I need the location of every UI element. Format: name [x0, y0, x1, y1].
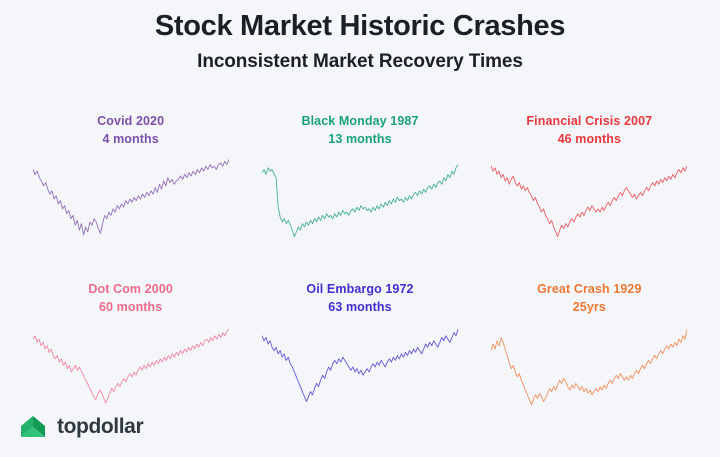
sparkline-path: [491, 166, 687, 237]
panel-crash-name: Oil Embargo 1972: [306, 282, 413, 296]
panel-recovery-time: 4 months: [97, 130, 164, 148]
sparkline-path: [33, 330, 229, 404]
brand-logo[interactable]: topdollar: [20, 413, 143, 441]
page-subtitle: Inconsistent Market Recovery Times: [0, 52, 720, 73]
page-title: Stock Market Historic Crashes: [0, 11, 720, 43]
sparkline-chart: [262, 154, 458, 246]
sparkline-chart: [491, 154, 687, 246]
panel-label: Great Crash 192925yrs: [537, 272, 641, 316]
sparkline-path: [262, 330, 458, 402]
sparkline-chart: [33, 322, 229, 414]
panel-label: Financial Crisis 200746 months: [526, 104, 652, 148]
brand-name: topdollar: [57, 415, 143, 439]
sparkline-container: [477, 154, 702, 254]
sparkline-chart: [491, 322, 687, 414]
panel-label: Black Monday 198713 months: [301, 104, 418, 148]
sparkline-container: [18, 322, 243, 422]
panel-crash-name: Great Crash 1929: [537, 282, 641, 296]
panel-label: Dot Com 200060 months: [88, 272, 173, 316]
header: Stock Market Historic Crashes Inconsiste…: [0, 0, 720, 73]
sparkline-path: [33, 160, 229, 235]
sparkline-path: [262, 165, 458, 237]
crash-panel: Black Monday 198713 months: [247, 104, 472, 272]
panel-crash-name: Dot Com 2000: [88, 282, 173, 296]
sparkline-path: [491, 330, 687, 405]
sparkline-chart: [33, 154, 229, 246]
panel-recovery-time: 13 months: [301, 130, 418, 148]
panel-crash-name: Covid 2020: [97, 114, 164, 128]
panel-label: Oil Embargo 197263 months: [306, 272, 413, 316]
sparkline-chart: [262, 322, 458, 414]
crash-panel: Covid 20204 months: [18, 104, 243, 272]
crash-panel-grid: Covid 20204 monthsBlack Monday 198713 mo…: [18, 104, 702, 440]
sparkline-container: [247, 322, 472, 422]
panel-recovery-time: 25yrs: [537, 298, 641, 316]
panel-label: Covid 20204 months: [97, 104, 164, 148]
panel-recovery-time: 60 months: [88, 298, 173, 316]
crash-panel: Financial Crisis 200746 months: [477, 104, 702, 272]
crash-panel: Oil Embargo 197263 months: [247, 272, 472, 440]
sparkline-container: [477, 322, 702, 422]
panel-crash-name: Financial Crisis 2007: [526, 114, 652, 128]
crash-panel: Great Crash 192925yrs: [477, 272, 702, 440]
topdollar-logo-icon: [20, 413, 50, 441]
panel-recovery-time: 63 months: [306, 298, 413, 316]
sparkline-container: [18, 154, 243, 254]
panel-crash-name: Black Monday 1987: [301, 114, 418, 128]
sparkline-container: [247, 154, 472, 254]
panel-recovery-time: 46 months: [526, 130, 652, 148]
